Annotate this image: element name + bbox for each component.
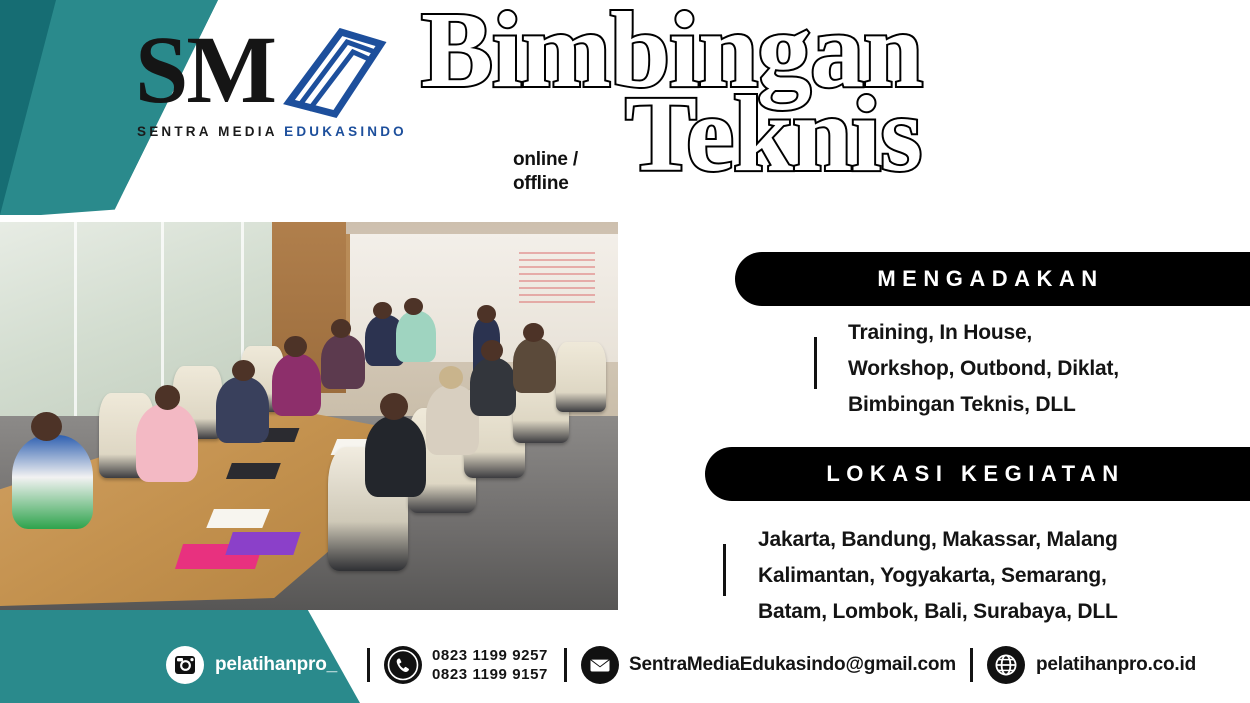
photo-attendee-head <box>439 366 464 389</box>
photo-attendee <box>365 416 427 497</box>
photo-laptop <box>226 463 281 479</box>
lokasi-line: Batam, Lombok, Bali, Surabaya, DLL <box>758 594 1118 630</box>
phone-numbers: 0823 1199 9257 0823 1199 9157 <box>432 646 548 684</box>
mengadakan-content: Training, In House, Workshop, Outbond, D… <box>814 315 1119 423</box>
photo-paper <box>206 509 269 528</box>
photo-attendee-head <box>284 336 306 357</box>
photo-attendee-head <box>373 302 392 319</box>
logo-monogram: SM <box>135 22 275 118</box>
mode-offline: offline <box>513 172 578 196</box>
globe-icon <box>987 646 1025 684</box>
website-contact[interactable]: pelatihanpro.co.id <box>987 646 1196 684</box>
training-room-photo <box>0 222 618 610</box>
open-book-icon <box>283 28 387 120</box>
photo-attendee <box>470 358 516 416</box>
mengadakan-list: Training, In House, Workshop, Outbond, D… <box>848 315 1119 423</box>
title-line-2: Teknis <box>625 90 921 181</box>
photo-attendee-head <box>31 412 62 441</box>
lokasi-list: Jakarta, Bandung, Makassar, Malang Kalim… <box>758 522 1118 630</box>
photo-attendee-head <box>155 385 181 410</box>
email-address: SentraMediaEdukasindo@gmail.com <box>629 654 956 676</box>
footer-separator <box>564 648 567 682</box>
phone-icon <box>384 646 422 684</box>
mode-online: online / <box>513 148 578 172</box>
poster-canvas: SM SENTRA MEDIA EDUKASINDO Bimbingan Tek… <box>0 0 1250 703</box>
photo-purple-folder <box>225 532 301 555</box>
photo-whiteboard-writing <box>519 252 595 303</box>
logo-wordmark: SENTRA MEDIA EDUKASINDO <box>137 124 407 139</box>
divider-bar <box>723 544 726 596</box>
photo-attendee <box>12 435 92 528</box>
contact-footer: pelatihanpro_ 0823 1199 9257 0823 1199 9… <box>0 640 1250 690</box>
lokasi-line: Jakarta, Bandung, Makassar, Malang <box>758 522 1118 558</box>
photo-chair <box>556 342 605 412</box>
photo-attendee-head <box>523 323 544 342</box>
phone-number-2: 0823 1199 9157 <box>432 665 548 684</box>
banner-lokasi-label: LOKASI KEGIATAN <box>826 461 1128 487</box>
brand-logo: SM SENTRA MEDIA EDUKASINDO <box>135 22 393 142</box>
website-url: pelatihanpro.co.id <box>1036 654 1196 676</box>
photo-attendee <box>513 338 556 392</box>
photo-attendee <box>136 404 198 482</box>
mengadakan-line: Bimbingan Teknis, DLL <box>848 387 1119 423</box>
logo-word-sentra-media: SENTRA MEDIA <box>137 124 277 139</box>
mengadakan-line: Training, In House, <box>848 315 1119 351</box>
footer-separator <box>970 648 973 682</box>
instagram-contact[interactable]: pelatihanpro_ <box>166 646 337 684</box>
mengadakan-line: Workshop, Outbond, Diklat, <box>848 351 1119 387</box>
photo-attendee-head <box>404 298 423 315</box>
photo-attendee <box>321 335 364 389</box>
photo-glass-mullion <box>74 222 77 447</box>
photo-attendee <box>396 311 436 361</box>
footer-separator <box>367 648 370 682</box>
email-contact[interactable]: SentraMediaEdukasindo@gmail.com <box>581 646 956 684</box>
instagram-handle: pelatihanpro_ <box>215 654 337 676</box>
photo-attendee <box>216 377 269 443</box>
banner-lokasi-kegiatan: LOKASI KEGIATAN <box>705 447 1250 501</box>
logo-word-edukasindo: EDUKASINDO <box>284 124 407 139</box>
envelope-icon <box>581 646 619 684</box>
lokasi-content: Jakarta, Bandung, Makassar, Malang Kalim… <box>723 522 1118 630</box>
photo-attendee <box>272 354 321 416</box>
phone-number-1: 0823 1199 9257 <box>432 646 548 665</box>
title-line-1: Bimbingan <box>421 6 922 97</box>
banner-mengadakan-label: MENGADAKAN <box>877 266 1107 292</box>
phone-contact[interactable]: 0823 1199 9257 0823 1199 9157 <box>384 646 548 684</box>
divider-bar <box>814 337 817 389</box>
delivery-mode-label: online / offline <box>513 148 578 196</box>
photo-attendee-head <box>331 319 351 338</box>
instagram-icon <box>166 646 204 684</box>
lokasi-line: Kalimantan, Yogyakarta, Semarang, <box>758 558 1118 594</box>
banner-mengadakan: MENGADAKAN <box>735 252 1250 306</box>
